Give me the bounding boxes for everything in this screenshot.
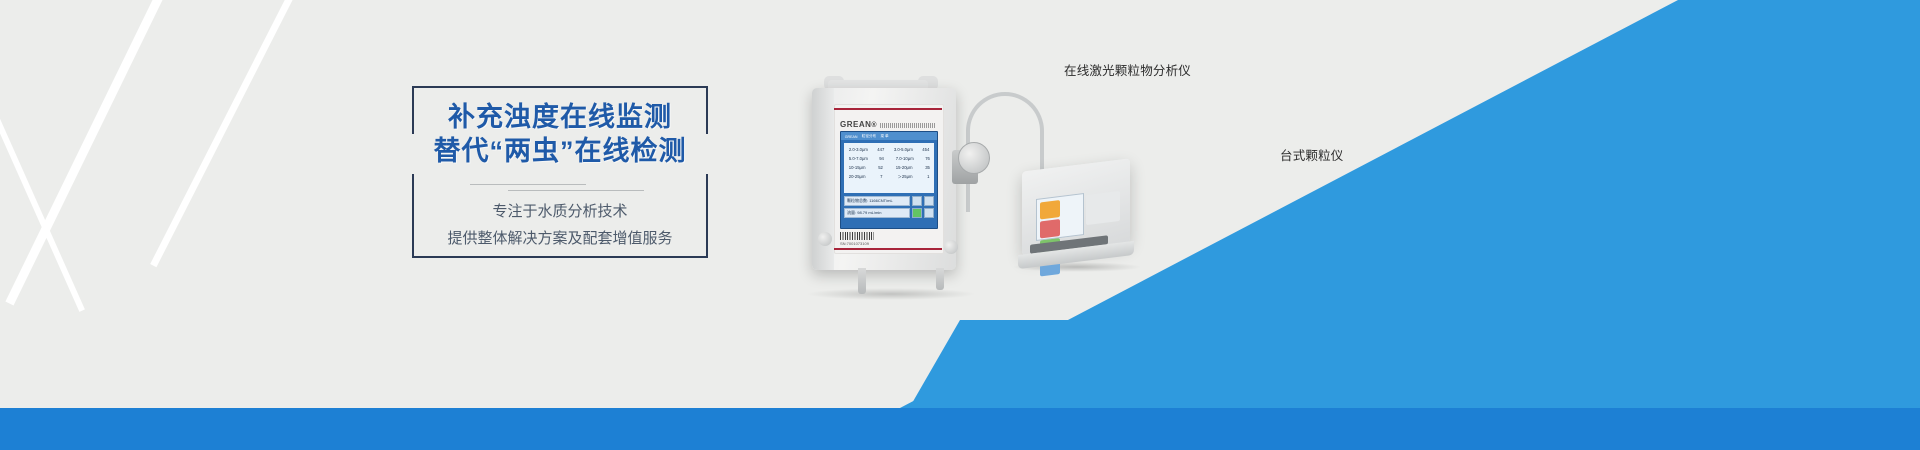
screen-tile-red[interactable] <box>1040 219 1060 238</box>
lcd-indicator[interactable] <box>912 196 922 206</box>
subtitle: 专注于水质分析技术 提供整体解决方案及配套增值服务 <box>412 198 708 252</box>
table-row: 20-25μm 7 ＞25μm 1 <box>846 172 932 181</box>
serial-number-caption: SN:7001073109 <box>840 241 869 246</box>
headline-line-1: 补充浊度在线监测 <box>412 100 708 134</box>
enclosure-foot-right <box>944 240 958 254</box>
divider-group <box>412 184 708 191</box>
lcd-flow-field: 流量: 98.79 mL/min <box>844 208 910 218</box>
cell-count-2: 454 <box>923 145 930 153</box>
lcd-total-count-field: 颗粒物总数: 1166CNT/mL <box>844 196 910 206</box>
desktop-counter-side-panel <box>1086 191 1120 225</box>
headline-line-2: 替代“两虫”在线检测 <box>412 134 708 168</box>
faceplate-accent-line-top <box>834 108 942 110</box>
enclosure-foot-left <box>818 232 832 246</box>
cell-count-1: 52 <box>878 163 883 171</box>
mounting-bracket-right <box>936 268 944 290</box>
brand-registered-mark: ® <box>871 122 877 129</box>
mounting-bracket-left <box>858 268 866 294</box>
brand-hatch-decor <box>880 123 936 128</box>
sensor-flange-ring <box>958 142 990 174</box>
frame-border-bottom <box>412 256 708 258</box>
product-label-desktop-counter: 台式颗粒仪 <box>1280 145 1344 164</box>
brand-name: GREAN <box>840 120 871 129</box>
lcd-indicator[interactable] <box>924 208 934 218</box>
table-row: 5.0-7.0μm 94 7.0-10μm 76 <box>846 154 932 163</box>
barcode-icon <box>840 232 874 240</box>
cell-count-2: 1 <box>928 172 930 180</box>
cell-bin-2: 15-20μm <box>896 163 913 171</box>
cell-bin-2: ＞25μm <box>898 172 913 180</box>
cell-count-1: 94 <box>879 154 884 162</box>
cell-bin-1: 20-25μm <box>849 172 866 180</box>
lcd-title-bar: GREAN 粒径分布 菜 单 <box>841 132 937 140</box>
brand-logo: GREAN® <box>840 120 940 129</box>
frame-border-top <box>412 86 708 88</box>
divider-lower <box>508 190 644 191</box>
lcd-status-row-flow: 流量: 98.79 mL/min <box>844 208 934 218</box>
screen-tile-orange[interactable] <box>1040 200 1060 219</box>
analyzer-lcd-screen[interactable]: GREAN 粒径分布 菜 单 2.0-3.0μm 447 3.0-5.0μm 4… <box>840 131 938 229</box>
desktop-counter-screen[interactable] <box>1036 193 1084 241</box>
cell-count-2: 35 <box>925 163 930 171</box>
background-blue-bottom-bar <box>0 408 1920 450</box>
faceplate-accent-line-bottom <box>834 248 942 250</box>
lcd-status-row-total: 颗粒物总数: 1166CNT/mL <box>844 196 934 206</box>
cell-bin-1: 10-15μm <box>849 163 866 171</box>
divider-upper <box>470 184 586 185</box>
lcd-particle-table: 2.0-3.0μm 447 3.0-5.0μm 454 5.0-7.0μm 94… <box>844 143 934 193</box>
cell-bin-1: 2.0-3.0μm <box>849 145 868 153</box>
lcd-title-left: GREAN <box>845 134 858 139</box>
product-label-online-analyzer: 在线激光颗粒物分析仪 <box>1064 60 1191 79</box>
cell-bin-2: 3.0-5.0μm <box>894 145 913 153</box>
headline-frame: 补充浊度在线监测 替代“两虫”在线检测 专注于水质分析技术 提供整体解决方案及配… <box>412 86 708 258</box>
lcd-title-center: 粒径分布 <box>862 133 876 138</box>
lcd-indicator-active[interactable] <box>912 208 922 218</box>
subtitle-line-2: 提供整体解决方案及配套增值服务 <box>412 225 708 252</box>
subtitle-line-1: 专注于水质分析技术 <box>412 198 708 225</box>
cell-bin-1: 5.0-7.0μm <box>849 154 868 162</box>
hero-banner: 补充浊度在线监测 替代“两虫”在线检测 专注于水质分析技术 提供整体解决方案及配… <box>0 0 1920 450</box>
analyzer-shadow <box>806 288 976 300</box>
table-row: 10-15μm 52 15-20μm 35 <box>846 163 932 172</box>
cell-count-1: 447 <box>877 145 884 153</box>
lcd-status-panel: 颗粒物总数: 1166CNT/mL 流量: 98.79 mL/min <box>844 196 934 218</box>
cell-count-1: 7 <box>880 172 882 180</box>
cell-bin-2: 7.0-10μm <box>896 154 914 162</box>
table-row: 2.0-3.0μm 447 3.0-5.0μm 454 <box>846 145 932 154</box>
lcd-indicator[interactable] <box>924 196 934 206</box>
cell-count-2: 76 <box>925 154 930 162</box>
lcd-title-right: 菜 单 <box>881 133 889 138</box>
headline: 补充浊度在线监测 替代“两虫”在线检测 <box>412 100 708 168</box>
